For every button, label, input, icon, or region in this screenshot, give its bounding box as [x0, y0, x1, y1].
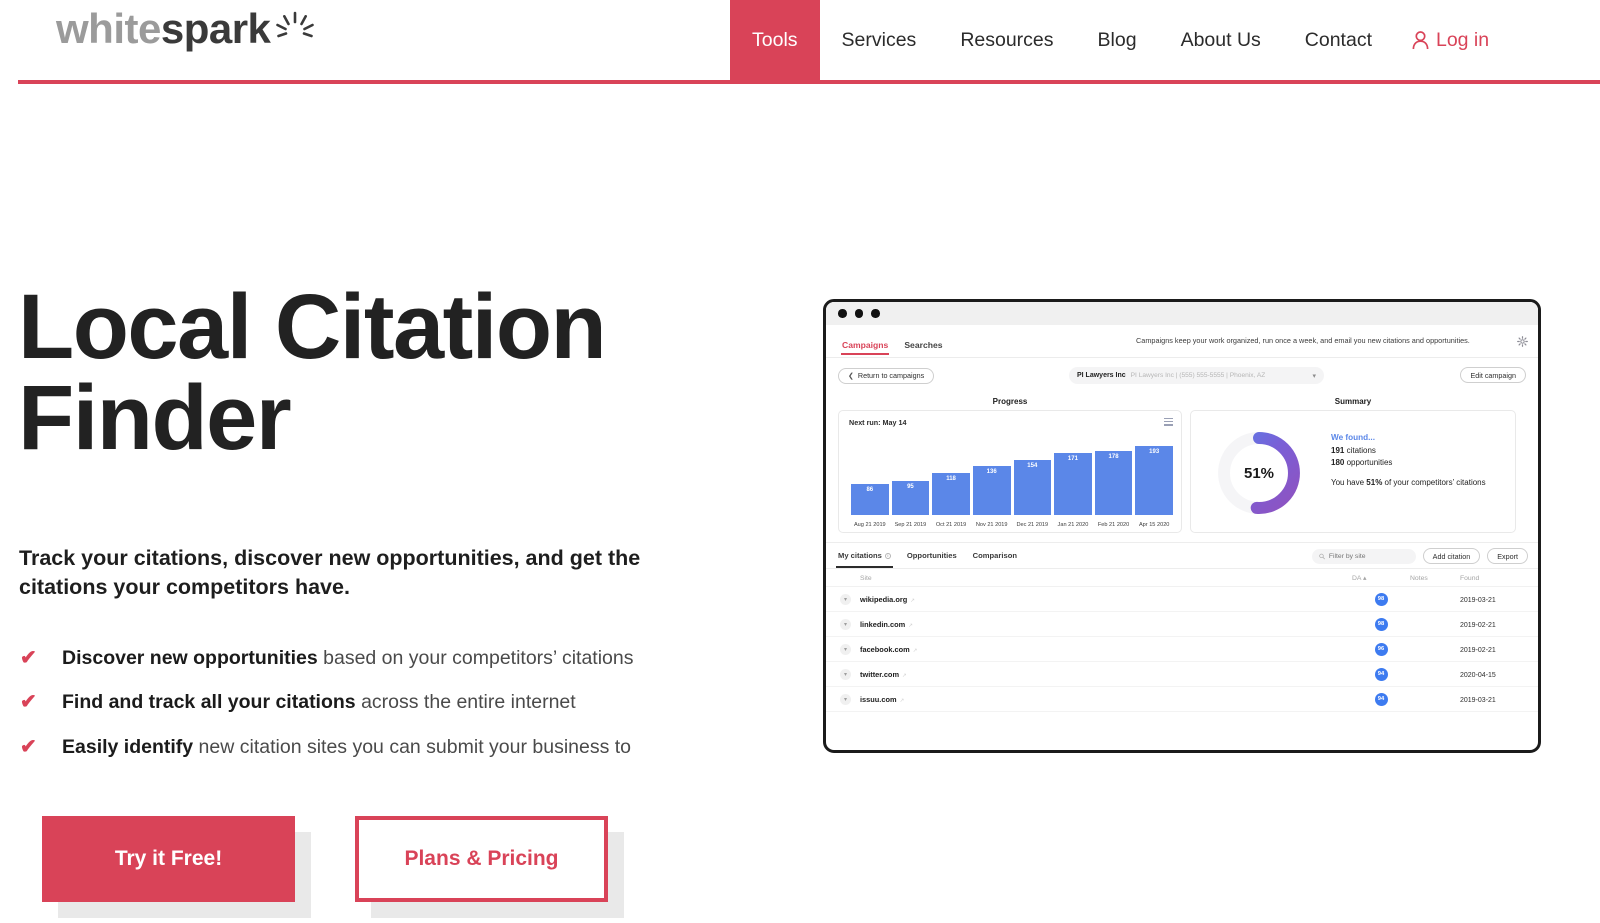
app-topbar: Campaigns Searches Campaigns keep your w…: [826, 325, 1538, 358]
row-expand-cell: ▾: [826, 662, 860, 687]
footer-percent: 51%: [1366, 478, 1382, 487]
logo-text-dark: spark: [161, 5, 271, 52]
row-da-cell: 98: [1352, 587, 1410, 612]
site-name[interactable]: wikipedia.org: [860, 595, 907, 604]
bar-category-label: Nov 21 2019: [973, 522, 1011, 528]
bar-value-label: 171: [1068, 456, 1078, 462]
list-item: ✔ Discover new opportunities based on yo…: [20, 647, 720, 670]
bar[interactable]: 178: [1095, 451, 1133, 515]
tab-comparison[interactable]: Comparison: [973, 543, 1017, 568]
bullet-bold: Easily identify: [62, 736, 193, 758]
bullet-rest: new citation sites you can submit your b…: [193, 736, 631, 758]
external-link-icon[interactable]: ↗: [908, 623, 913, 629]
bullet-bold: Find and track all your citations: [62, 691, 356, 713]
row-site-cell: wikipedia.org↗: [860, 587, 1352, 612]
citations-label: citations: [1344, 446, 1376, 455]
status-badge: 98: [1375, 618, 1388, 631]
site-name[interactable]: facebook.com: [860, 645, 910, 654]
page-title-line2: Finder: [18, 367, 290, 469]
bar-category-label: Dec 21 2019: [1014, 522, 1052, 528]
status-badge: 94: [1375, 693, 1388, 706]
progress-chart-box: Next run: May 14 8695118136154171178193 …: [838, 410, 1182, 533]
summary-footer: You have 51% of your competitors’ citati…: [1331, 477, 1486, 489]
row-notes-cell[interactable]: [1410, 662, 1460, 687]
opportunities-line: 180 opportunities: [1331, 458, 1486, 467]
external-link-icon[interactable]: ↗: [902, 673, 907, 679]
site-header: whitespark Tools Services Resources Blog…: [0, 0, 1600, 82]
row-notes-cell[interactable]: [1410, 687, 1460, 712]
bullet-bold: Discover new opportunities: [62, 647, 318, 669]
nav-item-about-us[interactable]: About Us: [1159, 0, 1283, 80]
cta-row: Try it Free! Plans & Pricing: [42, 816, 608, 902]
bar-category-label: Apr 15 2020: [1135, 522, 1173, 528]
try-it-free-button[interactable]: Try it Free!: [42, 816, 295, 902]
chevron-down-icon[interactable]: ▾: [840, 669, 851, 680]
tab-campaigns[interactable]: Campaigns: [842, 340, 888, 357]
list-item: ✔ Easily identify new citation sites you…: [20, 736, 720, 759]
chevron-down-icon: ▾: [1312, 372, 1316, 380]
list-item: ✔ Find and track all your citations acro…: [20, 691, 720, 714]
status-badge: 96: [1375, 643, 1388, 656]
bar-category-label: Aug 21 2019: [851, 522, 889, 528]
check-icon: ✔: [20, 647, 62, 670]
tab-my-citations-label: My citations: [838, 551, 882, 560]
opportunities-value: 180: [1331, 458, 1344, 467]
nav-item-contact[interactable]: Contact: [1283, 0, 1394, 80]
found-date: 2020-04-15: [1460, 672, 1496, 679]
row-found-cell: 2020-04-15: [1460, 662, 1538, 687]
citations-value: 191: [1331, 446, 1344, 455]
bar-value-label: 193: [1149, 449, 1159, 455]
charts-row: Progress Next run: May 14 86951181361541…: [826, 393, 1538, 533]
found-date: 2019-03-21: [1460, 597, 1496, 604]
app-screenshot-window: Campaigns Searches Campaigns keep your w…: [823, 299, 1541, 753]
bar-column: 95: [892, 481, 930, 515]
bar-value-label: 86: [866, 487, 873, 493]
summary-chart-card: Summary 51%: [1190, 397, 1516, 533]
footer-post: of your competitors’ citations: [1382, 478, 1485, 487]
row-found-cell: 2019-02-21: [1460, 637, 1538, 662]
found-date: 2019-02-21: [1460, 647, 1496, 654]
search-icon: [1319, 553, 1325, 560]
window-dot-icon: [871, 309, 880, 318]
col-found[interactable]: Found: [1460, 569, 1538, 587]
tab-opportunities[interactable]: Opportunities: [907, 543, 957, 568]
tab-searches[interactable]: Searches: [904, 340, 942, 357]
donut-chart: 51%: [1213, 427, 1305, 519]
table-row[interactable]: ▾facebook.com↗962019-02-21: [826, 637, 1538, 662]
tab-my-citations[interactable]: My citations i: [838, 543, 891, 568]
feature-bullet-list: ✔ Discover new opportunities based on yo…: [20, 647, 720, 780]
bar-category-label: Jan 21 2020: [1054, 522, 1092, 528]
col-notes[interactable]: Notes: [1410, 569, 1460, 587]
table-head: Site DA ▴ Notes Found: [826, 569, 1538, 587]
app-action-bar: ❮ Return to campaigns PI Lawyers Inc PI …: [826, 358, 1538, 393]
main-navigation: Tools Services Resources Blog About Us C…: [730, 0, 1509, 80]
nav-item-services[interactable]: Services: [820, 0, 939, 80]
status-badge: 98: [1375, 593, 1388, 606]
bar-column: 171: [1054, 453, 1092, 515]
try-free-wrapper: Try it Free!: [42, 816, 295, 902]
site-name[interactable]: linkedin.com: [860, 620, 905, 629]
campaign-meta: PI Lawyers Inc | (555) 555-5555 | Phoeni…: [1131, 372, 1266, 379]
table-header-row: Site DA ▴ Notes Found: [826, 569, 1538, 587]
edit-campaign-button[interactable]: Edit campaign: [1460, 367, 1526, 383]
logo-text-light: white: [56, 5, 161, 52]
row-notes-cell[interactable]: [1410, 587, 1460, 612]
site-name[interactable]: issuu.com: [860, 695, 897, 704]
bar-category-label: Feb 21 2020: [1095, 522, 1133, 528]
row-notes-cell[interactable]: [1410, 637, 1460, 662]
nav-item-tools[interactable]: Tools: [730, 0, 820, 80]
row-site-cell: facebook.com↗: [860, 637, 1352, 662]
check-icon: ✔: [20, 736, 62, 759]
window-dot-icon: [855, 309, 864, 318]
window-dot-icon: [838, 309, 847, 318]
add-citation-button[interactable]: Add citation: [1423, 548, 1481, 564]
chevron-down-icon[interactable]: ▾: [840, 694, 851, 705]
progress-bars: 8695118136154171178193: [851, 435, 1173, 515]
search-field[interactable]: [1312, 549, 1416, 564]
bar[interactable]: 171: [1054, 453, 1092, 515]
chevron-down-icon[interactable]: ▾: [840, 594, 851, 605]
starburst-icon: [274, 10, 316, 52]
progress-chart-title: Progress: [838, 397, 1182, 406]
next-run-label: Next run: May 14: [849, 418, 907, 427]
citations-table-section: My citations i Opportunities Comparison …: [826, 542, 1538, 712]
bar[interactable]: 118: [932, 473, 970, 515]
login-link[interactable]: Log in: [1394, 0, 1509, 80]
row-expand-cell: ▾: [826, 637, 860, 662]
search-input[interactable]: [1329, 553, 1409, 560]
row-found-cell: 2019-03-21: [1460, 587, 1538, 612]
gear-icon[interactable]: [1517, 336, 1528, 347]
citations-table: Site DA ▴ Notes Found ▾wikipedia.org↗982…: [826, 569, 1538, 712]
citations-line: 191 citations: [1331, 446, 1486, 455]
plans-pricing-wrapper: Plans & Pricing: [355, 816, 608, 902]
chevron-down-icon[interactable]: ▾: [840, 644, 851, 655]
summary-text-block: We found... 191 citations 180 opportunit…: [1331, 433, 1486, 488]
footer-pre: You have: [1331, 478, 1366, 487]
check-icon: ✔: [20, 691, 62, 714]
bar-value-label: 178: [1109, 454, 1119, 460]
donut-center-label: 51%: [1213, 427, 1305, 519]
found-date: 2019-02-21: [1460, 622, 1496, 629]
plans-and-pricing-button[interactable]: Plans & Pricing: [355, 816, 608, 902]
page-title-line1: Local Citation: [18, 276, 605, 378]
bullet-text: Easily identify new citation sites you c…: [62, 736, 631, 759]
hero-subtitle: Track your citations, discover new oppor…: [19, 544, 709, 602]
row-expand-cell: ▾: [826, 612, 860, 637]
chevron-down-icon[interactable]: ▾: [840, 619, 851, 630]
summary-chart-title: Summary: [1190, 397, 1516, 406]
bullet-rest: based on your competitors’ citations: [318, 647, 634, 669]
bar-column: 86: [851, 484, 889, 515]
row-site-cell: issuu.com↗: [860, 687, 1352, 712]
row-expand-cell: ▾: [826, 687, 860, 712]
we-found-heading: We found...: [1331, 433, 1486, 442]
bar-column: 178: [1095, 451, 1133, 515]
table-row[interactable]: ▾wikipedia.org↗982019-03-21: [826, 587, 1538, 612]
row-found-cell: 2019-02-21: [1460, 612, 1538, 637]
col-expand: [826, 569, 860, 587]
bar-column: 118: [932, 473, 970, 515]
nav-item-blog[interactable]: Blog: [1076, 0, 1159, 80]
user-icon: [1412, 31, 1429, 50]
bar-value-label: 118: [946, 476, 956, 482]
bar[interactable]: 95: [892, 481, 930, 515]
bar-value-label: 154: [1027, 463, 1037, 469]
bar[interactable]: 136: [973, 466, 1011, 515]
login-label: Log in: [1436, 29, 1489, 52]
site-name[interactable]: twitter.com: [860, 670, 899, 679]
bullet-text: Find and track all your citations across…: [62, 691, 576, 714]
site-logo[interactable]: whitespark: [56, 8, 270, 50]
bar-column: 136: [973, 466, 1011, 515]
table-row[interactable]: ▾linkedin.com↗982019-02-21: [826, 612, 1538, 637]
info-icon[interactable]: i: [885, 553, 891, 559]
row-da-cell: 94: [1352, 687, 1410, 712]
table-body: ▾wikipedia.org↗982019-03-21▾linkedin.com…: [826, 587, 1538, 712]
row-da-cell: 96: [1352, 637, 1410, 662]
topbar-note: Campaigns keep your work organized, run …: [1136, 336, 1470, 345]
nav-item-resources[interactable]: Resources: [938, 0, 1075, 80]
summary-chart-box: 51% We found... 191 citations 180 opport…: [1190, 410, 1516, 533]
hamburger-icon[interactable]: [1164, 418, 1173, 428]
row-notes-cell[interactable]: [1410, 612, 1460, 637]
page-title: Local Citation Finder: [18, 282, 698, 464]
table-row[interactable]: ▾twitter.com↗942020-04-15: [826, 662, 1538, 687]
row-site-cell: twitter.com↗: [860, 662, 1352, 687]
found-date: 2019-03-21: [1460, 697, 1496, 704]
window-titlebar: [826, 302, 1538, 325]
external-link-icon[interactable]: ↗: [913, 648, 918, 654]
external-link-icon[interactable]: ↗: [910, 598, 915, 604]
bullet-text: Discover new opportunities based on your…: [62, 647, 634, 670]
opportunities-label: opportunities: [1344, 458, 1392, 467]
row-da-cell: 94: [1352, 662, 1410, 687]
progress-chart-card: Progress Next run: May 14 86951181361541…: [838, 397, 1182, 533]
bar-column: 154: [1014, 460, 1052, 515]
bullet-rest: across the entire internet: [356, 691, 576, 713]
col-da[interactable]: DA ▴: [1352, 569, 1410, 587]
col-site[interactable]: Site: [860, 569, 1352, 587]
chevron-left-icon: ❮: [848, 372, 854, 380]
bar-column: 193: [1135, 446, 1173, 515]
bar-category-label: Oct 21 2019: [932, 522, 970, 528]
bar[interactable]: 193: [1135, 446, 1173, 515]
external-link-icon[interactable]: ↗: [900, 698, 905, 704]
return-to-campaigns-button[interactable]: ❮ Return to campaigns: [838, 368, 934, 384]
progress-bar-labels: Aug 21 2019Sep 21 2019Oct 21 2019Nov 21 …: [851, 522, 1173, 528]
bar-value-label: 136: [987, 469, 997, 475]
table-row[interactable]: ▾issuu.com↗942019-03-21: [826, 687, 1538, 712]
table-toolbar: Add citation Export: [1312, 548, 1528, 564]
campaign-select-dropdown[interactable]: PI Lawyers Inc PI Lawyers Inc | (555) 55…: [1069, 367, 1324, 384]
bar[interactable]: 154: [1014, 460, 1052, 515]
app-tab-group: Campaigns Searches: [842, 325, 943, 357]
bar-category-label: Sep 21 2019: [892, 522, 930, 528]
status-badge: 94: [1375, 668, 1388, 681]
row-expand-cell: ▾: [826, 587, 860, 612]
row-da-cell: 98: [1352, 612, 1410, 637]
table-tab-group: My citations i Opportunities Comparison …: [826, 543, 1538, 569]
export-button[interactable]: Export: [1487, 548, 1528, 564]
campaign-name: PI Lawyers Inc: [1077, 372, 1126, 379]
row-site-cell: linkedin.com↗: [860, 612, 1352, 637]
bar[interactable]: 86: [851, 484, 889, 515]
return-button-label: Return to campaigns: [858, 371, 924, 380]
bar-value-label: 95: [907, 484, 914, 490]
header-divider: [18, 80, 1600, 84]
row-found-cell: 2019-03-21: [1460, 687, 1538, 712]
